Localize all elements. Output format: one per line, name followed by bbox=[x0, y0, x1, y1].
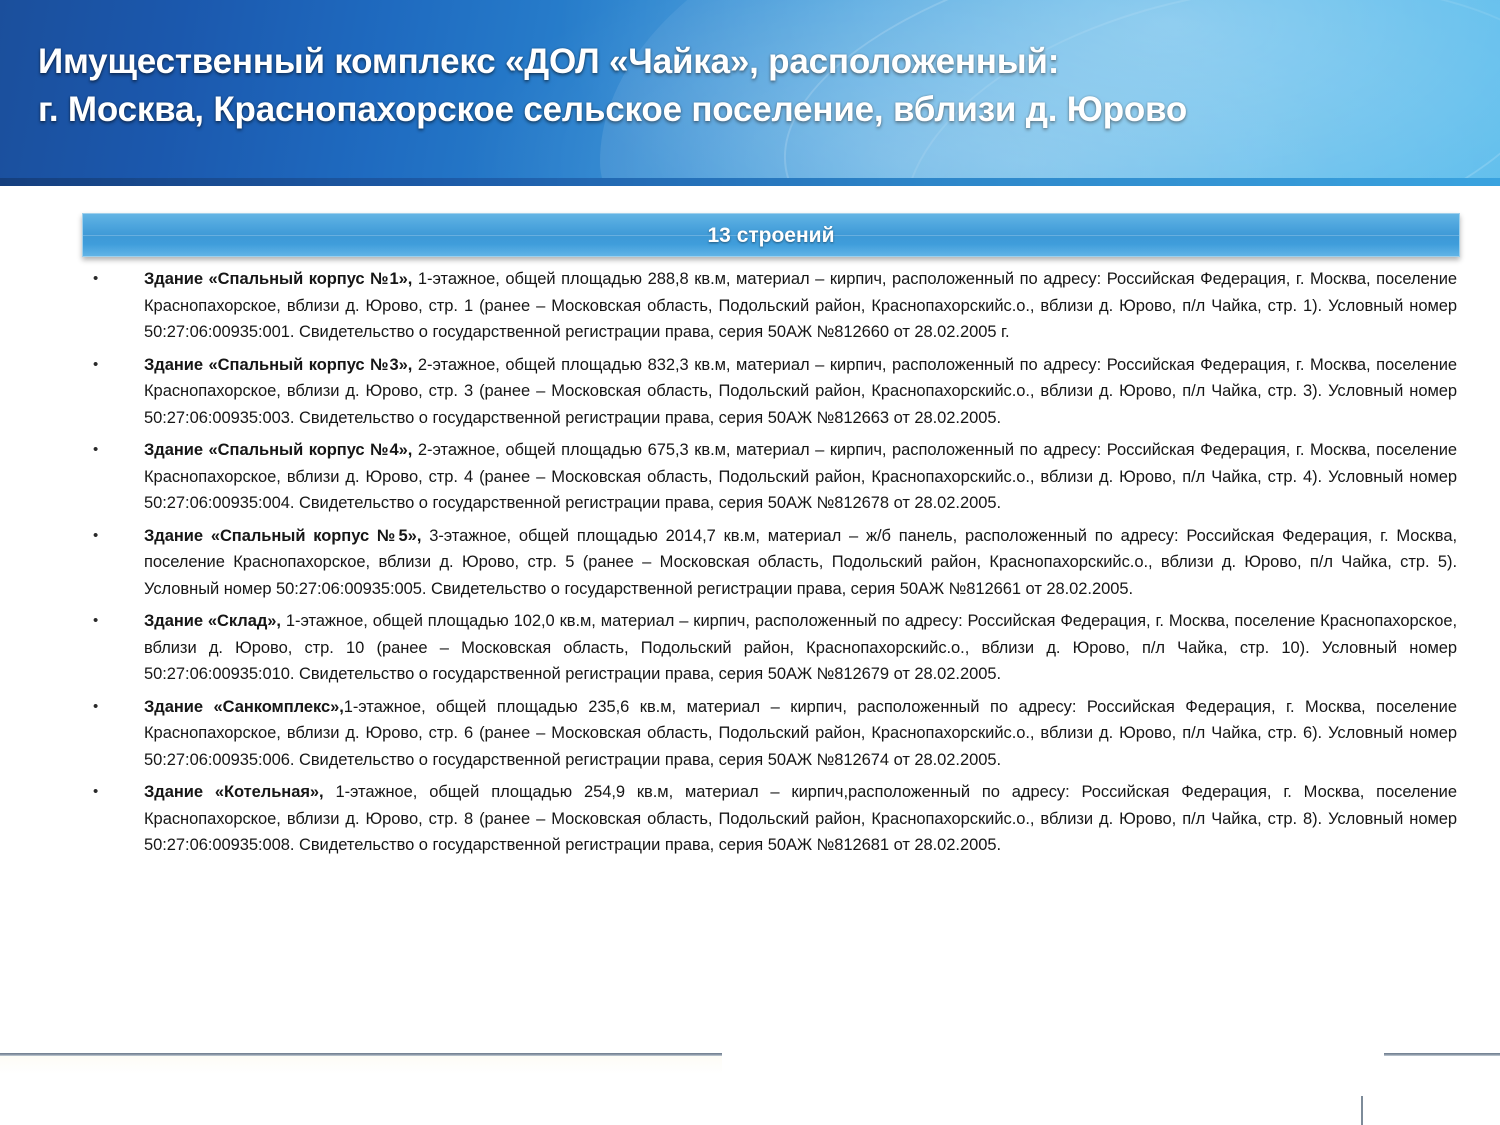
header-bottom-edge bbox=[0, 178, 1500, 186]
page-title: Имущественный комплекс «ДОЛ «Чайка», рас… bbox=[38, 38, 1468, 134]
list-item-text: Здание «Спальный корпус №3», 2-этажное, … bbox=[144, 352, 1457, 432]
list-item: •Здание «Спальный корпус №1», 1-этажное,… bbox=[82, 266, 1457, 346]
list-item: •Здание «Спальный корпус №4», 2-этажное,… bbox=[82, 437, 1457, 517]
building-name: Здание «Котельная», bbox=[144, 783, 324, 801]
footer-divider-right bbox=[1384, 1053, 1500, 1056]
bullet-marker-icon: • bbox=[82, 694, 144, 721]
bullet-marker-icon: • bbox=[82, 266, 144, 293]
list-item: •Здание «Спальный корпус №3», 2-этажное,… bbox=[82, 352, 1457, 432]
bullet-marker-icon: • bbox=[82, 352, 144, 379]
list-item-text: Здание «Спальный корпус №4», 2-этажное, … bbox=[144, 437, 1457, 517]
list-item-text: Здание «Котельная», 1-этажное, общей пло… bbox=[144, 779, 1457, 859]
footer-tick-mark bbox=[1361, 1096, 1363, 1125]
buildings-list: •Здание «Спальный корпус №1», 1-этажное,… bbox=[82, 266, 1457, 865]
building-name: Здание «Спальный корпус №5», bbox=[144, 527, 421, 545]
bullet-marker-icon: • bbox=[82, 608, 144, 635]
slide-header-banner: Имущественный комплекс «ДОЛ «Чайка», рас… bbox=[0, 0, 1500, 186]
list-item: •Здание «Спальный корпус №5», 3-этажное,… bbox=[82, 523, 1457, 603]
footer-tint bbox=[0, 1056, 722, 1074]
list-item-text: Здание «Спальный корпус №1», 1-этажное, … bbox=[144, 266, 1457, 346]
bullet-marker-icon: • bbox=[82, 437, 144, 464]
bullet-marker-icon: • bbox=[82, 779, 144, 806]
section-header-bar: 13 строений bbox=[82, 213, 1460, 261]
section-header-title: 13 строений bbox=[82, 224, 1460, 248]
building-name: Здание «Склад», bbox=[144, 612, 281, 630]
building-name: Здание «Спальный корпус №3», bbox=[144, 356, 412, 374]
list-item: •Здание «Санкомплекс»,1-этажное, общей п… bbox=[82, 694, 1457, 774]
bullet-marker-icon: • bbox=[82, 523, 144, 550]
building-description: 1-этажное, общей площадью 102,0 кв.м, ма… bbox=[144, 612, 1457, 683]
building-name: Здание «Спальный корпус №4», bbox=[144, 441, 412, 459]
building-name: Здание «Спальный корпус №1», bbox=[144, 270, 412, 288]
list-item: •Здание «Котельная», 1-этажное, общей пл… bbox=[82, 779, 1457, 859]
building-name: Здание «Санкомплекс», bbox=[144, 698, 344, 716]
list-item-text: Здание «Санкомплекс»,1-этажное, общей пл… bbox=[144, 694, 1457, 774]
list-item: •Здание «Склад», 1-этажное, общей площад… bbox=[82, 608, 1457, 688]
list-item-text: Здание «Склад», 1-этажное, общей площадь… bbox=[144, 608, 1457, 688]
building-description: 1-этажное, общей площадью 254,9 кв.м, ма… bbox=[144, 783, 1457, 854]
list-item-text: Здание «Спальный корпус №5», 3-этажное, … bbox=[144, 523, 1457, 603]
